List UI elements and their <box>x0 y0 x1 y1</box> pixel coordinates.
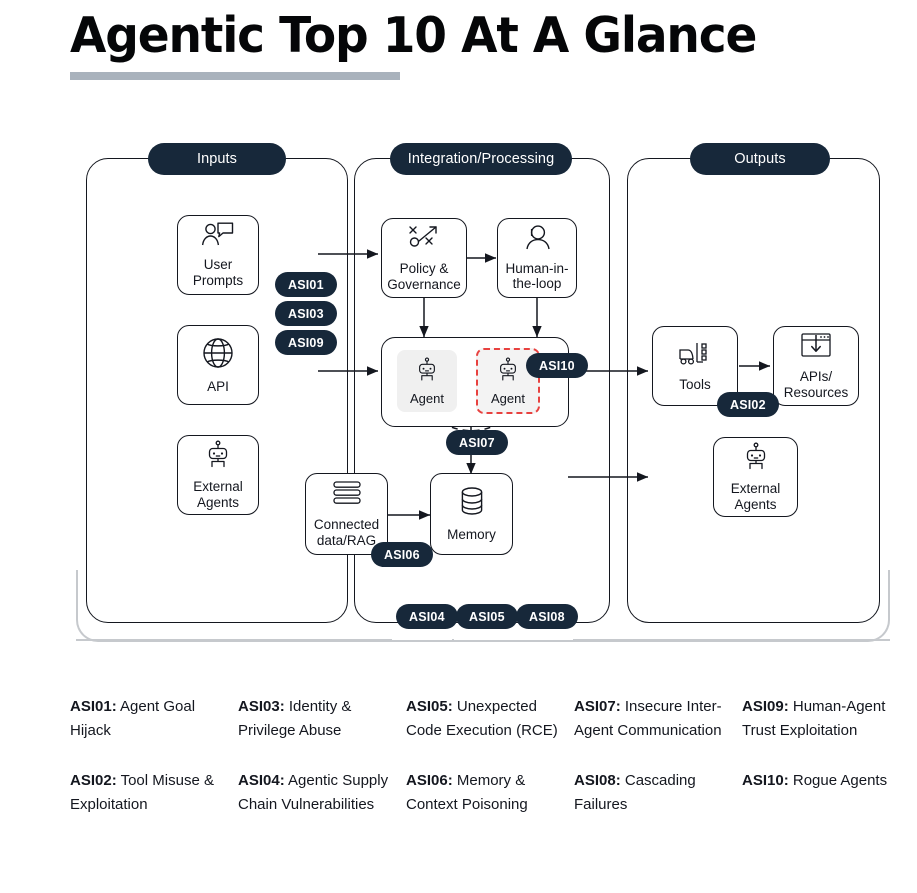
node-policy-governance[interactable]: Policy & Governance <box>381 218 467 298</box>
badge-asi02[interactable]: ASI02 <box>717 392 779 417</box>
forklift-icon <box>678 340 712 373</box>
node-external-agents-input[interactable]: External Agents <box>177 435 259 515</box>
node-label-memory: Memory <box>447 527 496 543</box>
strategy-icon <box>407 224 441 257</box>
node-label-human-in-the-loop: Human-in- the-loop <box>505 261 568 292</box>
badge-asi08[interactable]: ASI08 <box>516 604 578 629</box>
robot-icon <box>414 356 440 389</box>
globe-icon <box>201 336 235 375</box>
panel-title-inputs: Inputs <box>148 143 286 175</box>
node-connected-data-rag[interactable]: Connected data/RAG <box>305 473 388 555</box>
legend-code: ASI02: <box>70 772 117 789</box>
legend-item: ASI07: Insecure Inter-Agent Communicatio… <box>574 695 732 743</box>
node-label-api: API <box>207 379 229 395</box>
legend-item: ASI03: Identity & Privilege Abuse <box>238 695 396 743</box>
node-label-agent-rogue: Agent <box>491 391 525 407</box>
panel-title-outputs: Outputs <box>690 143 830 175</box>
node-human-in-the-loop[interactable]: Human-in- the-loop <box>497 218 577 298</box>
agentic-top10-diagram-page: Agentic Top 10 At A Glance <box>0 0 917 893</box>
node-user-prompts[interactable]: User Prompts <box>177 215 259 295</box>
node-label-tools: Tools <box>679 377 711 393</box>
robot-icon <box>741 442 771 477</box>
legend-column: ASI03: Identity & Privilege Abuse ASI04:… <box>238 695 396 817</box>
legend-item: ASI10: Rogue Agents <box>742 769 900 793</box>
node-label-policy-governance: Policy & Governance <box>387 261 461 292</box>
legend-item: ASI09: Human-Agent Trust Exploitation <box>742 695 900 743</box>
database-icon <box>458 486 486 523</box>
badge-asi06[interactable]: ASI06 <box>371 542 433 567</box>
legend-code: ASI09: <box>742 698 789 715</box>
user-speech-bubble-icon <box>201 222 235 253</box>
legend-code: ASI01: <box>70 698 117 715</box>
node-label-external-agents-output: External Agents <box>731 481 781 512</box>
legend-column: ASI01: Agent Goal Hijack ASI02: Tool Mis… <box>70 695 228 817</box>
node-agent[interactable]: Agent <box>397 350 457 412</box>
badge-asi09[interactable]: ASI09 <box>275 330 337 355</box>
node-api[interactable]: API <box>177 325 259 405</box>
legend-code: ASI05: <box>406 698 453 715</box>
legend-code: ASI10: <box>742 772 789 789</box>
node-label-external-agents-input: External Agents <box>193 479 243 510</box>
legend-text: Rogue Agents <box>789 772 887 789</box>
legend-item: ASI04: Agentic Supply Chain Vulnerabilit… <box>238 769 396 817</box>
legend: ASI01: Agent Goal Hijack ASI02: Tool Mis… <box>70 695 900 817</box>
legend-code: ASI03: <box>238 698 285 715</box>
legend-column: ASI05: Unexpected Code Execution (RCE) A… <box>406 695 564 817</box>
badge-asi01[interactable]: ASI01 <box>275 272 337 297</box>
person-icon <box>522 225 552 257</box>
badge-asi04[interactable]: ASI04 <box>396 604 458 629</box>
node-apis-resources[interactable]: APIs/ Resources <box>773 326 859 406</box>
legend-code: ASI04: <box>238 772 285 789</box>
badge-asi10[interactable]: ASI10 <box>526 353 588 378</box>
legend-item: ASI01: Agent Goal Hijack <box>70 695 228 743</box>
agents-container: Agent Agent <box>381 337 569 427</box>
node-memory[interactable]: Memory <box>430 473 513 555</box>
diagram-canvas: Inputs User Prompts <box>0 130 917 650</box>
legend-item: ASI02: Tool Misuse & Exploitation <box>70 769 228 817</box>
legend-column: ASI07: Insecure Inter-Agent Communicatio… <box>574 695 732 817</box>
node-label-apis-resources: APIs/ Resources <box>784 369 849 400</box>
node-label-agent: Agent <box>410 391 444 407</box>
robot-icon <box>203 440 233 475</box>
panel-title-integration: Integration/Processing <box>390 143 572 175</box>
legend-code: ASI06: <box>406 772 453 789</box>
node-label-connected-data-rag: Connected data/RAG <box>314 517 379 548</box>
legend-item: ASI06: Memory & Context Poisoning <box>406 769 564 817</box>
browser-download-icon <box>800 332 832 365</box>
node-label-user-prompts: User Prompts <box>193 257 243 288</box>
title-underline-rule <box>70 72 400 80</box>
badge-asi03[interactable]: ASI03 <box>275 301 337 326</box>
badge-asi05[interactable]: ASI05 <box>456 604 518 629</box>
legend-column: ASI09: Human-Agent Trust Exploitation AS… <box>742 695 900 793</box>
legend-item: ASI08: Cascading Failures <box>574 769 732 817</box>
page-title: Agentic Top 10 At A Glance <box>70 6 756 66</box>
legend-item: ASI05: Unexpected Code Execution (RCE) <box>406 695 564 743</box>
legend-code: ASI08: <box>574 772 621 789</box>
badge-asi07[interactable]: ASI07 <box>446 430 508 455</box>
legend-code: ASI07: <box>574 698 621 715</box>
stacked-layers-icon <box>331 480 363 513</box>
robot-icon <box>495 356 521 389</box>
node-external-agents-output[interactable]: External Agents <box>713 437 798 517</box>
